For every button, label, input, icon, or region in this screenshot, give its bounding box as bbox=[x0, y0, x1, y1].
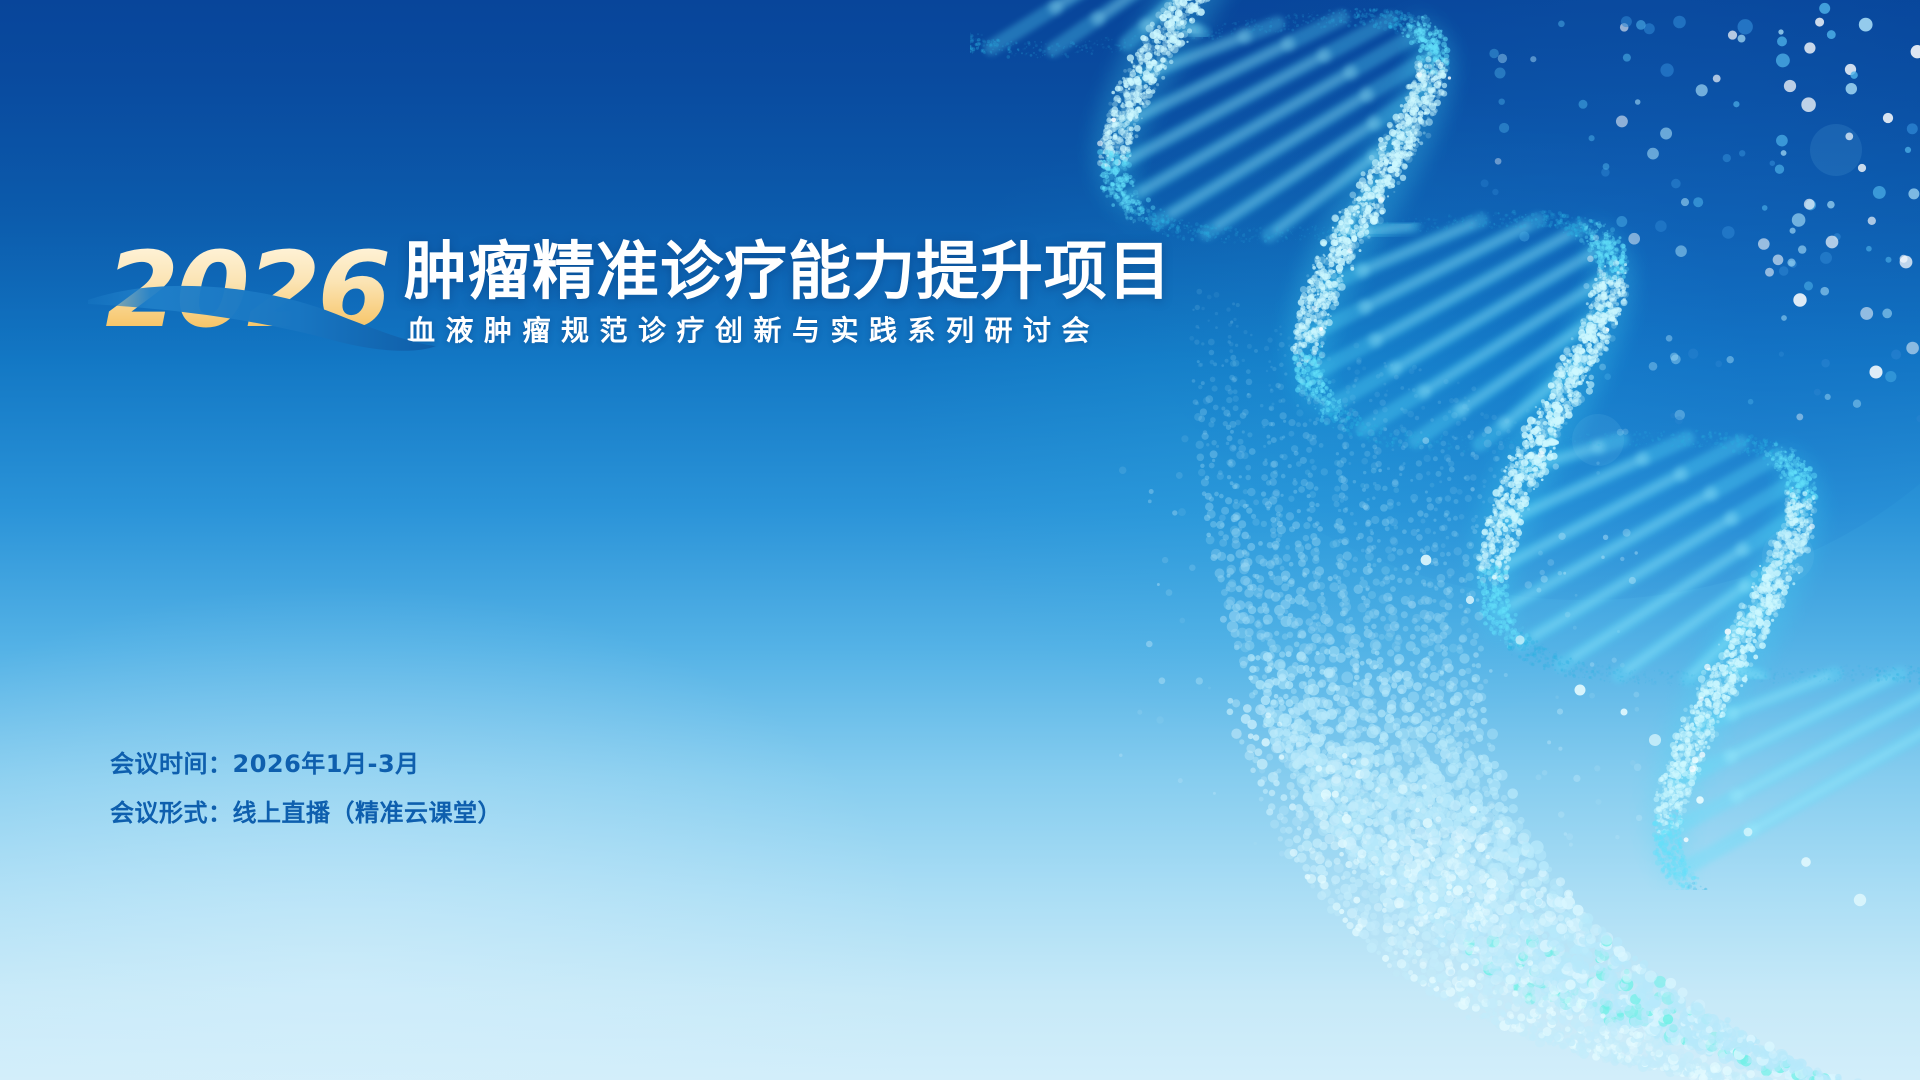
dna-helix-graphic bbox=[970, 0, 1920, 890]
meeting-time-row: 会议时间：2026年1月-3月 bbox=[110, 752, 502, 776]
top-right-glow bbox=[1110, 0, 1920, 600]
center-glow bbox=[880, 60, 1780, 760]
title-group: 肿瘤精准诊疗能力提升项目 血液肿瘤规范诊疗创新与实践系列研讨会 bbox=[404, 238, 1172, 345]
headline-block: 2026 肿瘤精准诊疗能力提升项目 血液肿瘤规范诊疗创新与实践系列研讨会 bbox=[108, 238, 1172, 352]
year-badge: 2026 bbox=[108, 244, 410, 352]
page-subtitle: 血液肿瘤规范诊疗创新与实践系列研讨会 bbox=[407, 317, 1172, 345]
conference-poster: 2026 肿瘤精准诊疗能力提升项目 血液肿瘤规范诊疗创新与实践系列研讨会 会议时… bbox=[0, 0, 1920, 1080]
page-title: 肿瘤精准诊疗能力提升项目 bbox=[404, 240, 1172, 304]
meeting-info-block: 会议时间：2026年1月-3月 会议形式：线上直播（精准云课堂） bbox=[110, 752, 502, 825]
bottom-left-glow bbox=[0, 580, 940, 1080]
ribbon-swoosh-icon bbox=[86, 270, 438, 354]
particle-wave-graphic bbox=[0, 0, 1920, 1080]
meeting-format-row: 会议形式：线上直播（精准云课堂） bbox=[110, 801, 502, 825]
